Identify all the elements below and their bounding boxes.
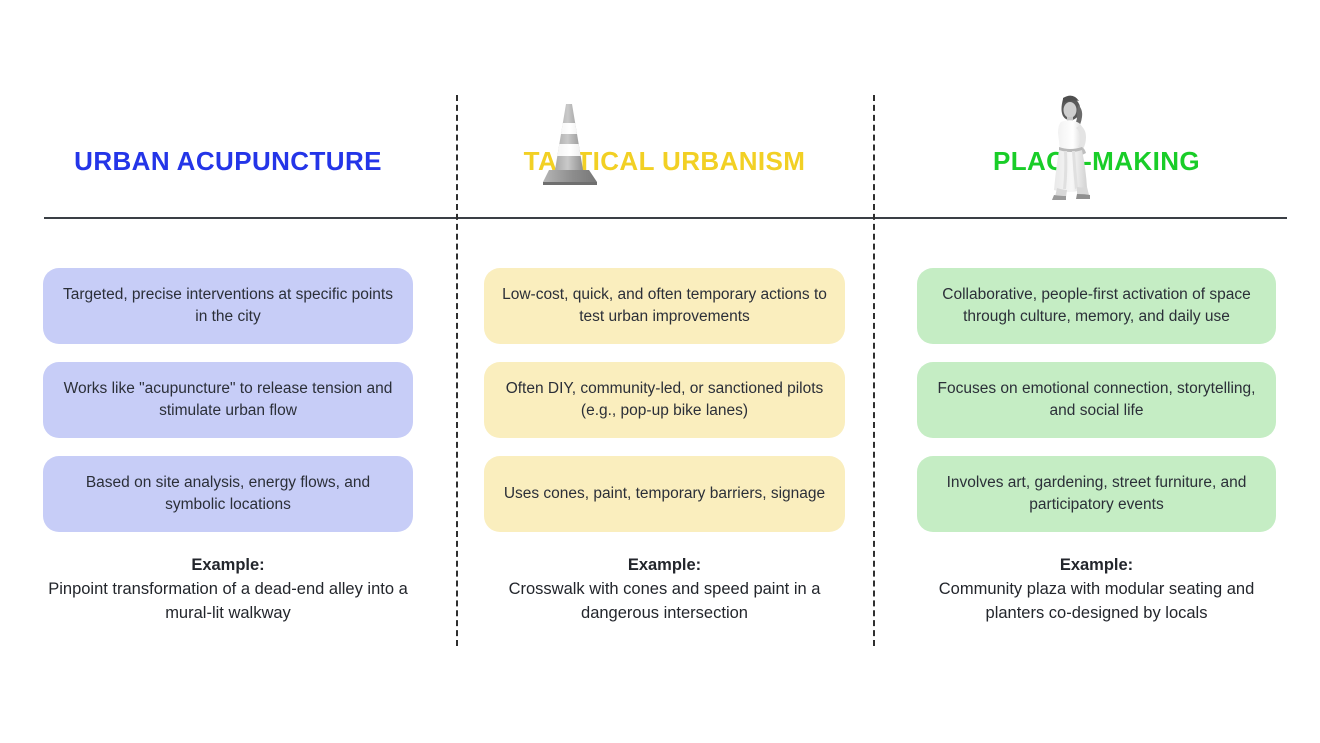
column-1-header: URBAN ACUPUNCTURE xyxy=(43,0,413,217)
point-card: Focuses on emotional connection, storyte… xyxy=(917,362,1276,438)
point-card: Often DIY, community-led, or sanctioned … xyxy=(484,362,845,438)
point-card-text: Collaborative, people-first activation o… xyxy=(935,284,1258,328)
point-card: Involves art, gardening, street furnitur… xyxy=(917,456,1276,532)
example-block: Example: Community plaza with modular se… xyxy=(917,554,1276,625)
point-card-text: Low-cost, quick, and often temporary act… xyxy=(502,284,827,328)
example-label: Example: xyxy=(484,554,845,577)
example-block: Example: Pinpoint transformation of a de… xyxy=(43,554,413,625)
point-card: Uses cones, paint, temporary barriers, s… xyxy=(484,456,845,532)
point-card-text: Involves art, gardening, street furnitur… xyxy=(935,472,1258,516)
traffic-cone-icon xyxy=(539,100,601,188)
column-tactical-urbanism: TACTICAL URBANISM Low-cost, quick, and o… xyxy=(456,0,873,743)
point-card-text: Works like "acupuncture" to release tens… xyxy=(61,378,395,422)
column-1-title: URBAN ACUPUNCTURE xyxy=(43,148,413,174)
point-card: Low-cost, quick, and often temporary act… xyxy=(484,268,845,344)
example-text: Pinpoint transformation of a dead-end al… xyxy=(43,578,413,625)
column-2-body: Low-cost, quick, and often temporary act… xyxy=(484,217,845,625)
infographic-canvas: URBAN ACUPUNCTURE Targeted, precise inte… xyxy=(0,0,1320,743)
example-block: Example: Crosswalk with cones and speed … xyxy=(484,554,845,625)
point-card-text: Targeted, precise interventions at speci… xyxy=(61,284,395,328)
point-card: Based on site analysis, energy flows, an… xyxy=(43,456,413,532)
column-3-body: Collaborative, people-first activation o… xyxy=(917,217,1276,625)
column-3-header: PLACE-MAKING xyxy=(917,0,1276,217)
example-text: Crosswalk with cones and speed paint in … xyxy=(484,578,845,625)
example-label: Example: xyxy=(917,554,1276,577)
walking-person-icon xyxy=(1037,93,1107,205)
column-1-body: Targeted, precise interventions at speci… xyxy=(43,217,413,625)
point-card: Collaborative, people-first activation o… xyxy=(917,268,1276,344)
columns-container: URBAN ACUPUNCTURE Targeted, precise inte… xyxy=(0,0,1320,743)
example-text: Community plaza with modular seating and… xyxy=(917,578,1276,625)
column-urban-acupuncture: URBAN ACUPUNCTURE Targeted, precise inte… xyxy=(0,0,456,743)
column-place-making: PLACE-MAKING Collaborative, people-first… xyxy=(873,0,1320,743)
point-card: Targeted, precise interventions at speci… xyxy=(43,268,413,344)
example-label: Example: xyxy=(43,554,413,577)
point-card-text: Often DIY, community-led, or sanctioned … xyxy=(502,378,827,422)
point-card-text: Uses cones, paint, temporary barriers, s… xyxy=(504,483,825,505)
point-card-text: Based on site analysis, energy flows, an… xyxy=(61,472,395,516)
column-2-header: TACTICAL URBANISM xyxy=(484,0,845,217)
point-card-text: Focuses on emotional connection, storyte… xyxy=(935,378,1258,422)
point-card: Works like "acupuncture" to release tens… xyxy=(43,362,413,438)
